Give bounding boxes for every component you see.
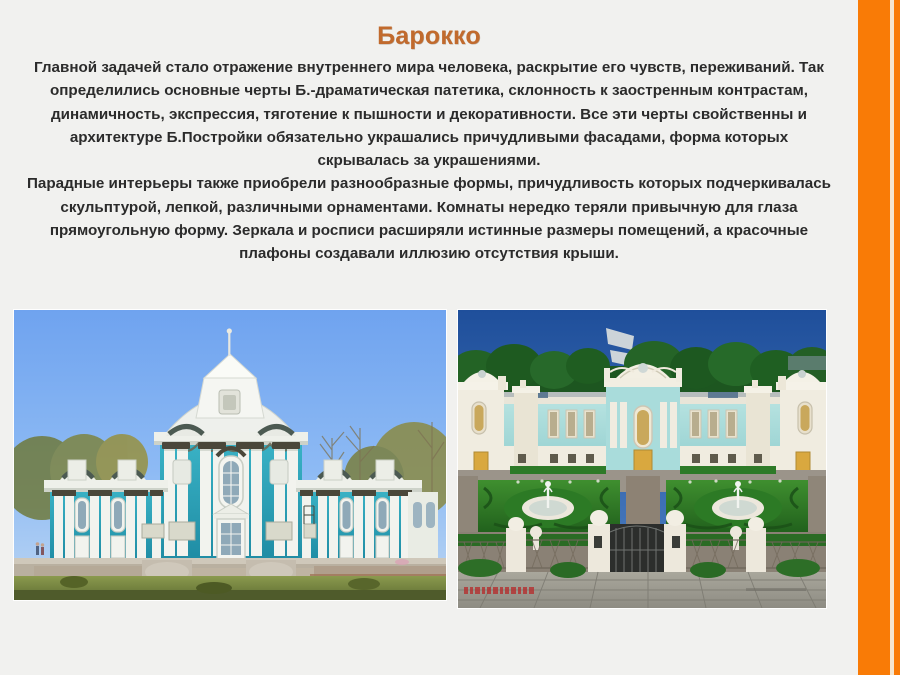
body-text: Главной задачей стало отражение внутренн… [22,56,836,266]
photo-mariinsky[interactable] [458,310,826,608]
body-paragraph-2: Парадные интерьеры также приобрели разно… [22,172,836,265]
hermitage-illustration [14,310,446,600]
photo-hermitage[interactable] [14,310,446,600]
mariinsky-illustration [458,310,826,608]
decorative-orange-edge-bar [894,0,900,675]
page-title: Барокко [0,22,858,51]
slide-content: Барокко Главной задачей стало отражение … [0,0,858,675]
body-paragraph-1: Главной задачей стало отражение внутренн… [22,56,836,172]
decorative-orange-bar [858,0,890,675]
